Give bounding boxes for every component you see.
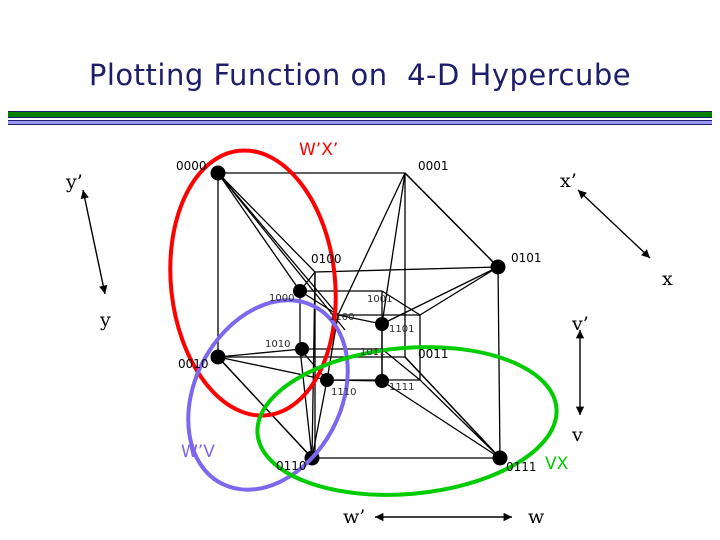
axis-label-y-prime: y’	[66, 173, 83, 192]
group-label-vx: VX	[545, 456, 568, 473]
node-label-0110: 0110	[276, 460, 307, 472]
node-label-0010: 0010	[178, 358, 209, 370]
y-axis-arrow	[83, 190, 105, 294]
node-label-0100: 0100	[311, 253, 342, 265]
axis-label-w: w	[528, 508, 544, 527]
node-dot	[295, 342, 309, 356]
node-label-1001: 1001	[367, 295, 392, 305]
node-label-1011: 1011	[360, 348, 385, 358]
axis-label-w-prime: w’	[343, 508, 365, 527]
node-dot	[320, 373, 334, 387]
axis-label-x: x	[662, 270, 673, 289]
axis-label-v-prime: v’	[572, 315, 589, 334]
group-label-wx-prime: W’X’	[299, 142, 338, 159]
node-dot	[293, 284, 307, 298]
node-dot	[375, 374, 389, 388]
axis-label-x-prime: x’	[560, 172, 577, 191]
x-axis-arrow	[578, 190, 650, 258]
node-dot	[211, 350, 226, 365]
axis-label-v: v	[572, 426, 583, 445]
node-label-1010: 1010	[265, 340, 290, 350]
slide-canvas: Plotting Function on 4-D Hypercube	[0, 0, 720, 540]
node-dot	[211, 166, 226, 181]
group-label-w-prime-v: W’V	[181, 444, 215, 461]
hypercube-figure	[0, 0, 720, 540]
node-dot	[375, 317, 389, 331]
node-label-0111: 0111	[506, 461, 537, 473]
node-label-0011: 0011	[418, 348, 449, 360]
node-label-1000: 1000	[269, 294, 294, 304]
node-label-1111: 1111	[389, 383, 414, 393]
node-label-0101: 0101	[511, 252, 542, 264]
node-label-0000: 0000	[176, 160, 207, 172]
node-label-0001: 0001	[418, 160, 449, 172]
ellipse-vx	[251, 335, 563, 507]
node-label-1101: 1101	[389, 325, 414, 335]
node-dot	[491, 260, 506, 275]
axis-label-y: y	[100, 311, 111, 330]
node-label-1100: 1100	[329, 313, 354, 323]
ellipse-wx-prime	[158, 142, 349, 424]
node-label-1110: 1110	[331, 388, 356, 398]
